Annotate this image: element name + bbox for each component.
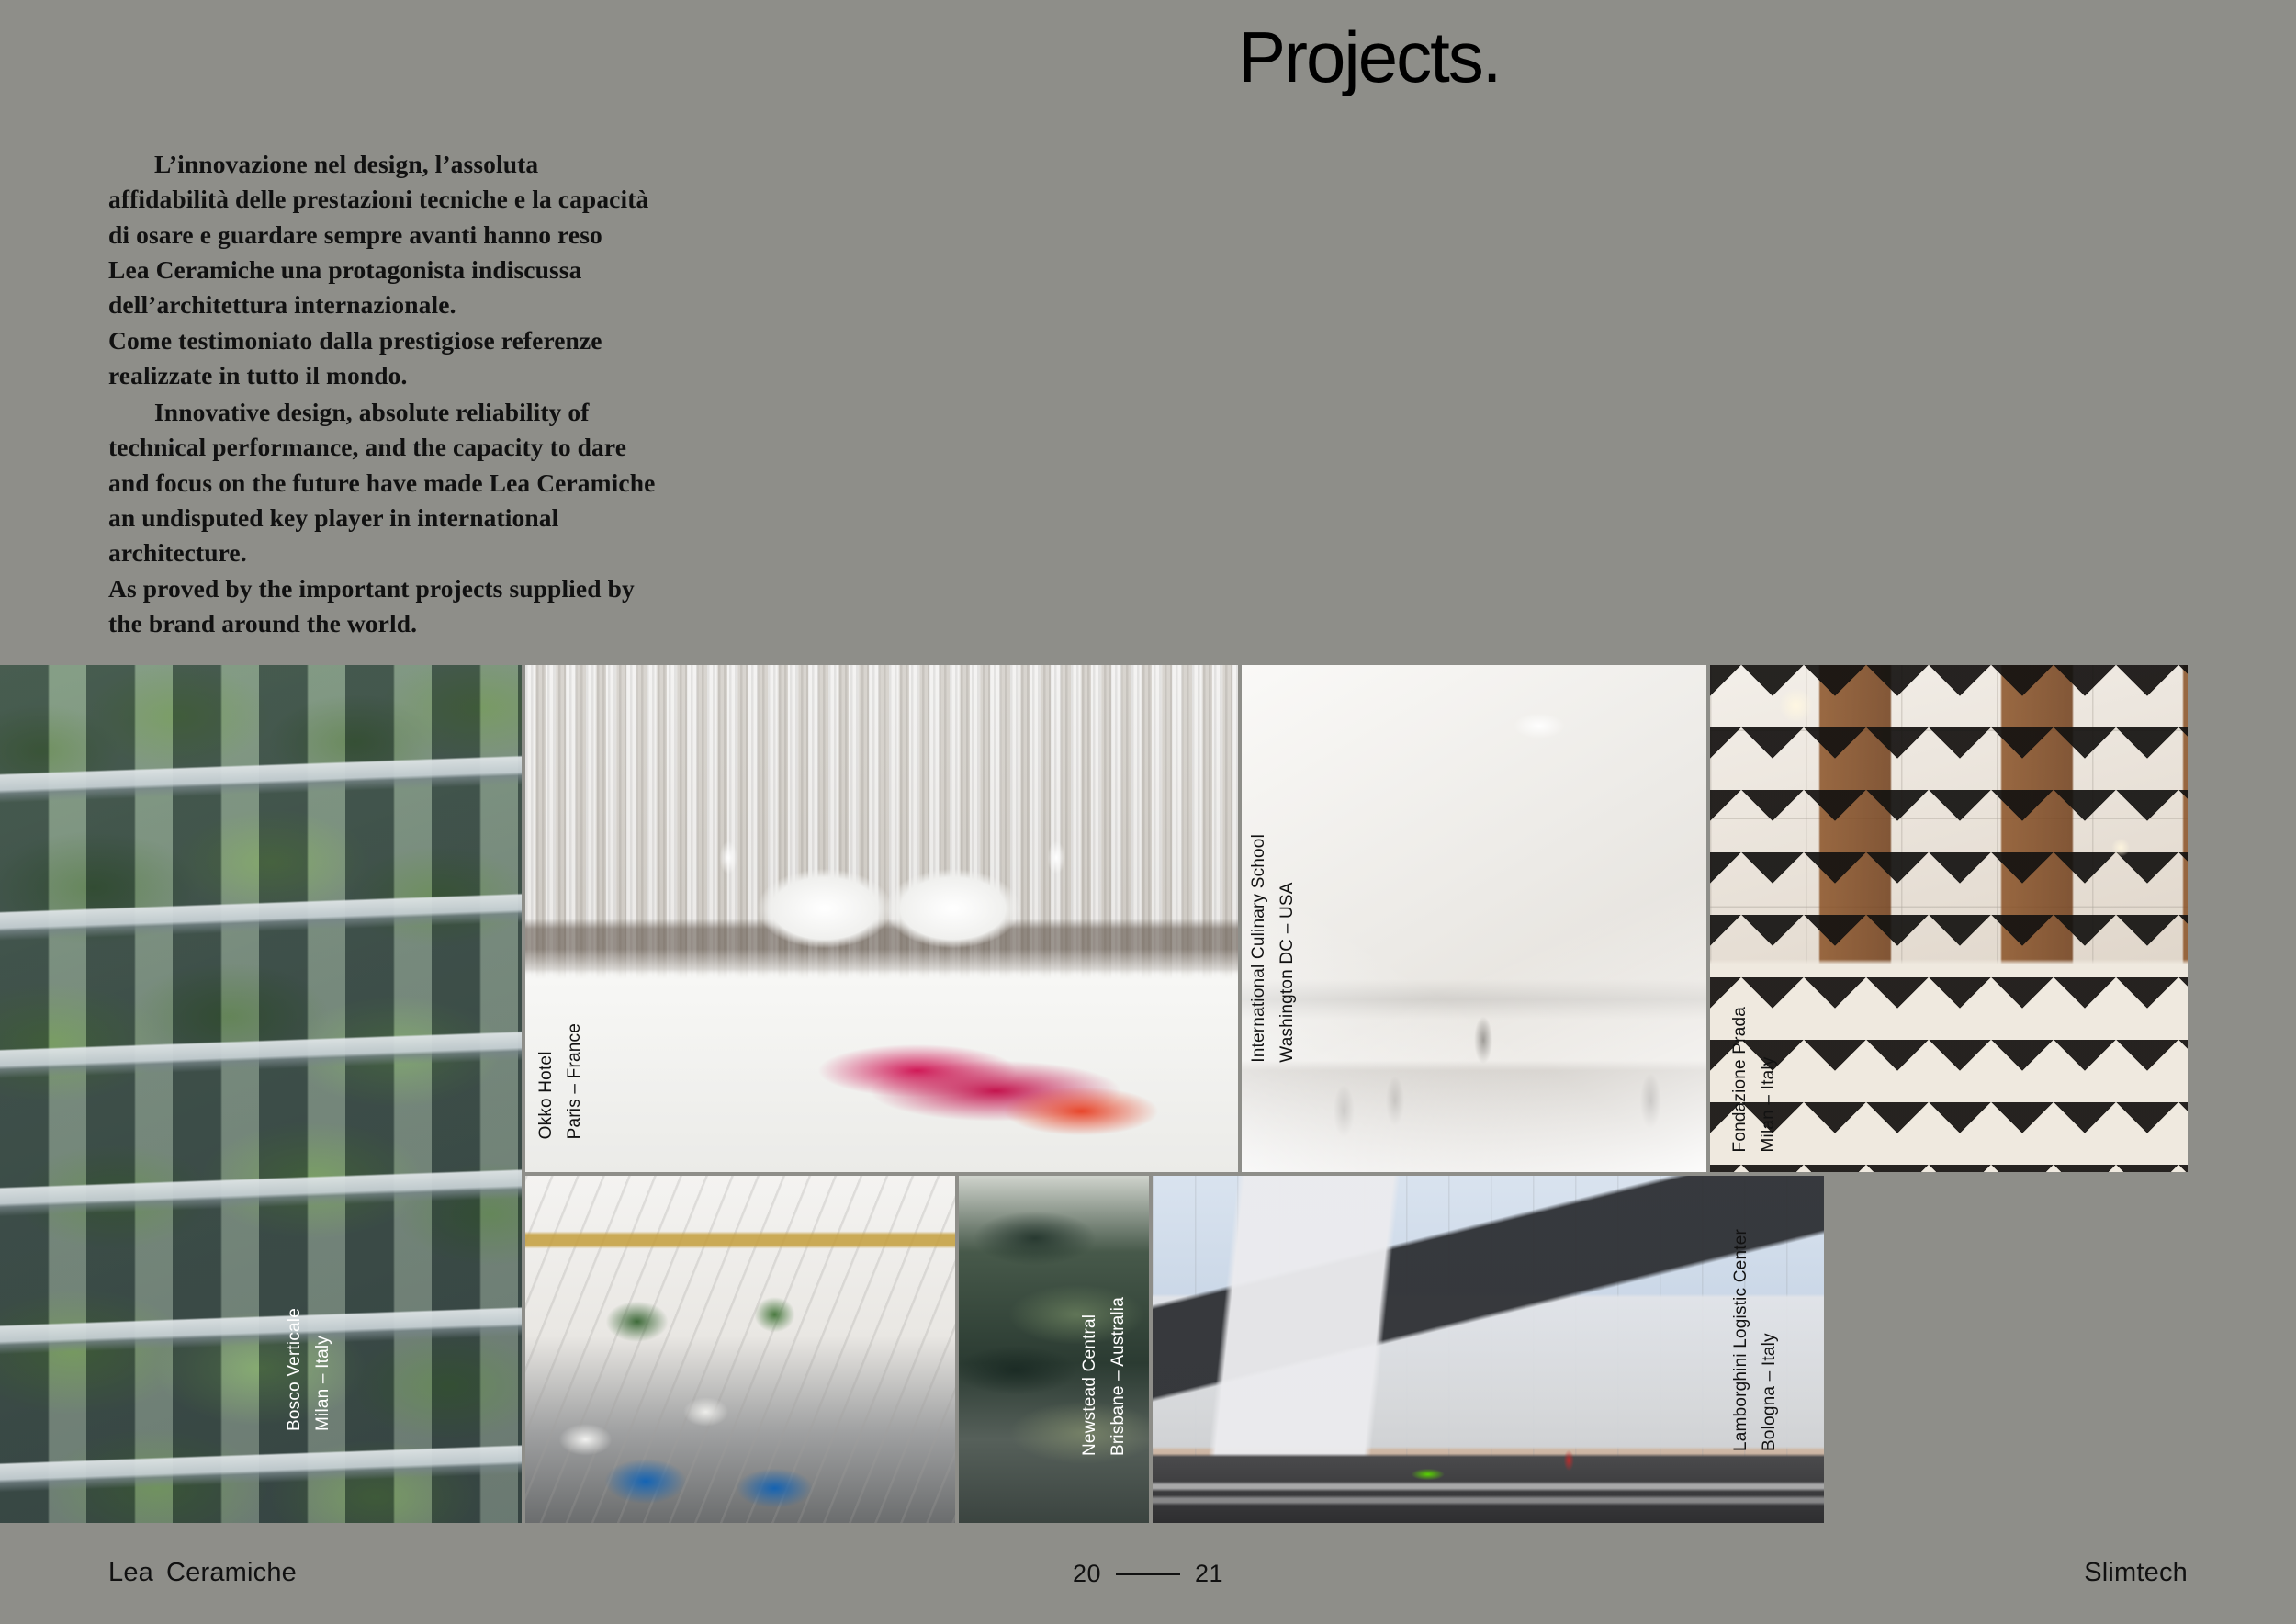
project-tile-fondazione-prada[interactable]: Fondazione Prada Milan – Italy: [1710, 665, 2188, 1172]
intro-english-line: and focus on the future have made Lea Ce…: [108, 468, 655, 497]
project-photo-newstead-lobby: [525, 1176, 955, 1523]
project-photo-okko-hotel: [525, 665, 1238, 1172]
intro-english-line: the brand around the world.: [108, 609, 417, 637]
project-photo-bosco-verticale: [0, 665, 522, 1523]
project-tile-okko-hotel[interactable]: Okko Hotel Paris – France: [525, 665, 1238, 1172]
project-tile-newstead-lobby[interactable]: [525, 1176, 955, 1523]
project-tile-international-culinary-school[interactable]: International Culinary School Washington…: [1242, 665, 1706, 1172]
intro-italian-line: di osare e guardare sempre avanti hanno …: [108, 220, 602, 249]
project-photo-lamborghini-logistic-center: [1153, 1176, 1824, 1523]
page-number-left: 20: [1073, 1560, 1101, 1588]
page-number-indicator: 20 21: [0, 1560, 2296, 1588]
intro-english-lead: Innovative design, absolute reliability …: [108, 398, 590, 426]
intro-english-line: an undisputed key player in internationa…: [108, 503, 558, 532]
page-number-rule: [1116, 1573, 1180, 1575]
page-title: Projects.: [1238, 18, 1500, 97]
page-footer: LeaCeramiche 20 21 Slimtech: [0, 1558, 2296, 1624]
project-tile-lamborghini-logistic-center[interactable]: Lamborghini Logistic Center Bologna – It…: [1153, 1176, 1824, 1523]
intro-italian-line: realizzate in tutto il mondo.: [108, 361, 407, 389]
intro-paragraph-english: Innovative design, absolute reliability …: [108, 395, 696, 642]
project-tile-bosco-verticale[interactable]: Bosco Verticale Milan – Italy: [0, 665, 522, 1523]
project-gallery: Bosco Verticale Milan – Italy Okko Hotel…: [0, 665, 2296, 1523]
intro-italian-line: Lea Ceramiche una protagonista indiscuss…: [108, 255, 581, 284]
page-number-right: 21: [1195, 1560, 1223, 1588]
intro-italian-lead: L’innovazione nel design, l’assoluta: [108, 150, 538, 178]
intro-english-line: architecture.: [108, 538, 247, 567]
footer-product-name: Slimtech: [2084, 1558, 2188, 1588]
intro-paragraph-italian: L’innovazione nel design, l’assoluta aff…: [108, 147, 696, 394]
project-photo-newstead-central: [959, 1176, 1149, 1523]
project-tile-newstead-central[interactable]: Newstead Central Brisbane – Australia: [959, 1176, 1149, 1523]
intro-italian-line: affidabilità delle prestazioni tecniche …: [108, 185, 648, 213]
intro-italian-line: Come testimoniato dalla prestigiose refe…: [108, 326, 602, 355]
project-photo-international-culinary-school: [1242, 665, 1706, 1172]
project-photo-fondazione-prada: [1710, 665, 2188, 1172]
intro-english-line: As proved by the important projects supp…: [108, 574, 635, 603]
intro-english-line: technical performance, and the capacity …: [108, 433, 626, 461]
intro-italian-line: dell’architettura internazionale.: [108, 290, 456, 319]
